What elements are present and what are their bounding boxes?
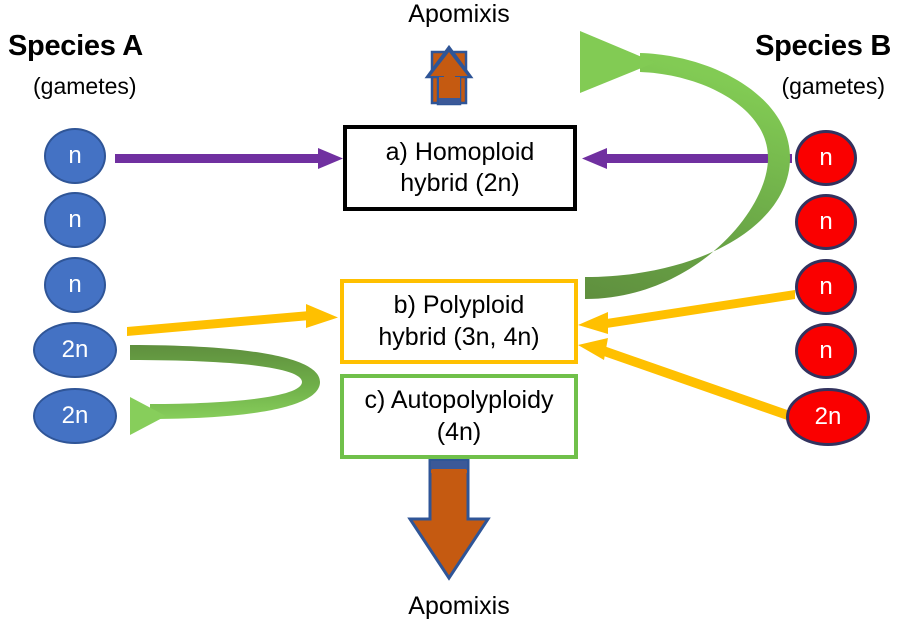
species-b-subtitle: (gametes) [781, 73, 885, 100]
gamete-b-5[interactable]: 2n [786, 388, 870, 446]
outcome-box-homoploid-hybrid[interactable]: a) Homoploid hybrid (2n) [343, 125, 577, 211]
box-c-line2: (4n) [364, 417, 553, 448]
arrow-purple-left [115, 148, 343, 169]
apomixis-label-top: Apomixis [340, 0, 578, 29]
box-c-line1: c) Autopolyploidy [364, 385, 553, 416]
gamete-a-5[interactable]: 2n [33, 388, 117, 444]
gamete-label: 2n [62, 338, 89, 362]
gamete-b-1[interactable]: n [795, 130, 857, 186]
arrow-yellow-right-lower [578, 338, 793, 421]
arrow-purple-right [582, 148, 792, 169]
gamete-label: 2n [815, 405, 842, 429]
apomixis-label-bottom: Apomixis [340, 592, 578, 621]
arrow-apomixis-up [427, 47, 471, 104]
box-b-line2: hybrid (3n, 4n) [378, 322, 539, 353]
gamete-a-3[interactable]: n [44, 257, 106, 313]
gamete-b-3[interactable]: n [795, 259, 857, 315]
gamete-label: n [68, 208, 81, 232]
box-a-line1: a) Homoploid [386, 137, 535, 168]
species-a-subtitle: (gametes) [33, 73, 137, 100]
gamete-label: 2n [62, 404, 89, 428]
species-a-title: Species A [8, 30, 143, 63]
gamete-label: n [819, 146, 832, 170]
gamete-label: n [68, 273, 81, 297]
gamete-a-1[interactable]: n [44, 128, 106, 184]
gamete-b-4[interactable]: n [795, 323, 857, 379]
arrow-green-curve-left [130, 345, 320, 435]
diagram-canvas: Species A (gametes) n n n 2n 2n Species … [0, 0, 903, 632]
gamete-a-2[interactable]: n [44, 192, 106, 248]
gamete-label: n [819, 275, 832, 299]
outcome-box-polyploid-hybrid[interactable]: b) Polyploid hybrid (3n, 4n) [340, 279, 578, 364]
arrow-green-curve-right [580, 31, 790, 299]
species-b-title: Species B [755, 30, 891, 63]
gamete-a-4[interactable]: 2n [33, 322, 117, 378]
box-a-line2: hybrid (2n) [386, 168, 535, 199]
gamete-label: n [68, 144, 81, 168]
gamete-label: n [819, 339, 832, 363]
arrow-yellow-left [127, 304, 338, 336]
outcome-box-autopolyploidy[interactable]: c) Autopolyploidy (4n) [340, 374, 578, 459]
gamete-label: n [819, 210, 832, 234]
box-b-line1: b) Polyploid [378, 290, 539, 321]
arrow-apomixis-down [410, 460, 488, 578]
gamete-b-2[interactable]: n [795, 194, 857, 250]
